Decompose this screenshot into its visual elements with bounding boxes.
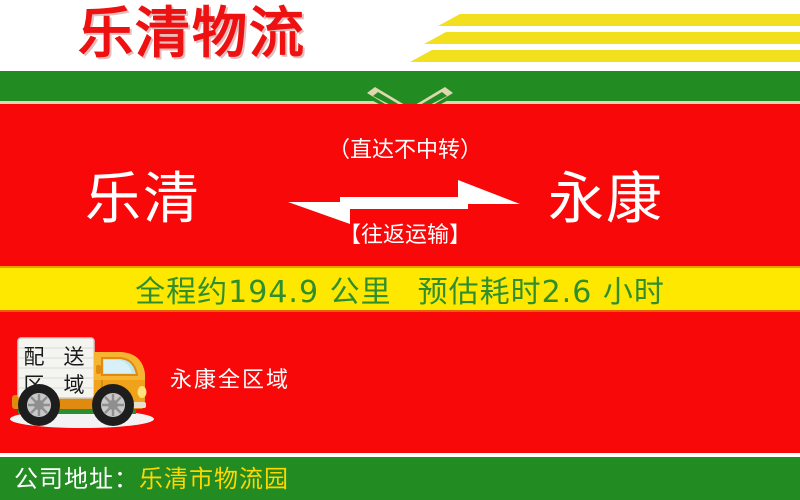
header-band: 乐清物流 xyxy=(0,0,800,71)
company-address-value: 乐清市物流园 xyxy=(139,465,289,493)
double-headed-arrow-icon xyxy=(288,178,520,226)
page-title: 乐清物流 xyxy=(78,2,306,64)
svg-text:配: 配 xyxy=(24,345,45,369)
svg-text:送: 送 xyxy=(64,345,85,369)
roundtrip-note: 【往返运输】 xyxy=(295,222,515,250)
distance-stat: 全程约194.9 公里 xyxy=(135,267,391,311)
coverage-area-text: 永康全区域 xyxy=(170,367,290,395)
logistics-banner: 乐清物流 乐清 （直达不中转） 【往返运输】 永康 xyxy=(0,0,800,500)
diagonal-stripes-icon xyxy=(410,8,800,66)
direct-service-note: （直达不中转） xyxy=(295,137,515,165)
svg-text:域: 域 xyxy=(64,373,85,397)
company-address: 公司地址：乐清市物流园 xyxy=(14,462,289,496)
company-address-label: 公司地址： xyxy=(14,465,139,493)
destination-city: 永康 xyxy=(548,168,708,232)
delivery-truck-icon: 配 送 区 域 xyxy=(6,322,158,434)
duration-stat: 预估耗时2.6 小时 xyxy=(418,267,665,311)
stats-row: 全程约194.9 公里 预估耗时2.6 小时 xyxy=(0,268,800,310)
origin-city: 乐清 xyxy=(85,168,235,232)
